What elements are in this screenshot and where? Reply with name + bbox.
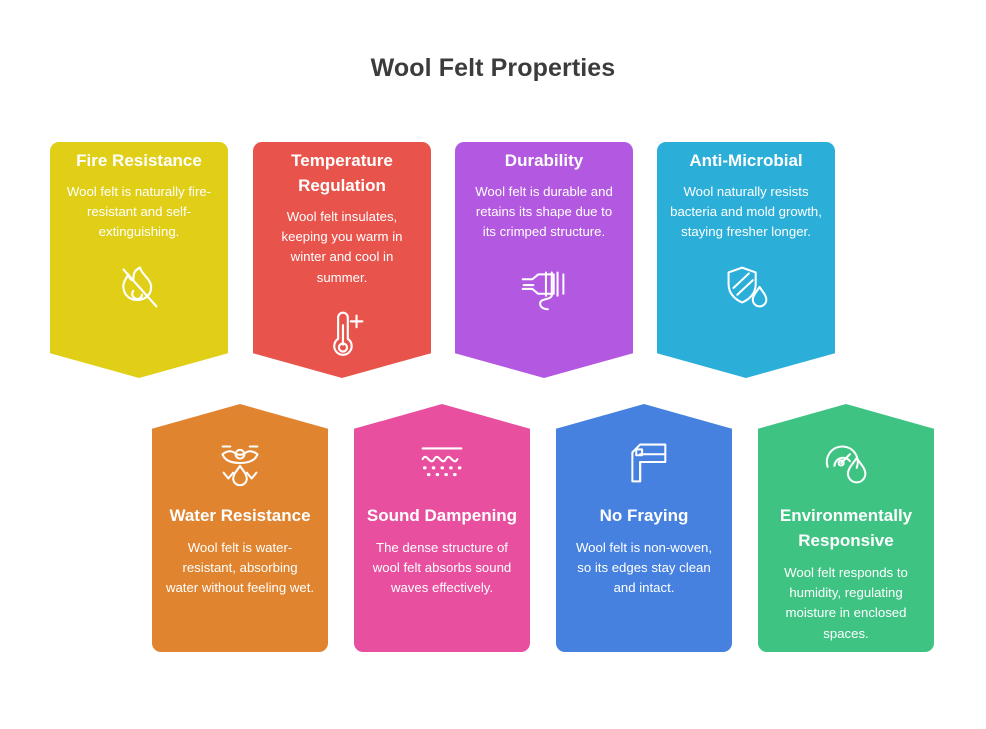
infographic-canvas: Wool Felt Properties Fire Resistance Woo… [0,0,986,729]
card-description: Wool felt is durable and retains its sha… [455,182,633,242]
card-anti-microbial[interactable]: Anti-Microbial Wool naturally resists ba… [657,142,835,378]
card-title: Fire Resistance [70,148,208,173]
card-sound-dampening[interactable]: Sound Dampening The dense structure of w… [354,404,530,652]
page-title: Wool Felt Properties [0,54,986,83]
water-repel-droplet-icon [209,431,271,493]
card-description: Wool felt is water-resistant, absorbing … [152,538,328,598]
humidity-gauge-droplet-icon [815,431,877,493]
card-title: Durability [499,148,589,173]
card-title: Sound Dampening [361,503,523,528]
shield-droplet-icon [715,256,777,318]
card-environmentally-responsive[interactable]: Environmentally Responsive Wool felt res… [758,404,934,652]
card-durability[interactable]: Durability Wool felt is durable and reta… [455,142,633,378]
card-description: The dense structure of wool felt absorbs… [354,538,530,598]
card-description: Wool felt is naturally fire-resistant an… [50,182,228,242]
card-title: Anti-Microbial [683,148,808,173]
card-temperature-regulation[interactable]: Temperature Regulation Wool felt insulat… [253,142,431,378]
thermometer-plus-icon [311,302,373,364]
card-description: Wool naturally resists bacteria and mold… [657,182,835,242]
card-title: Temperature Regulation [253,148,431,198]
sound-wave-icon [411,431,473,493]
card-fire-resistance[interactable]: Fire Resistance Wool felt is naturally f… [50,142,228,378]
card-title: No Fraying [594,503,695,528]
fabric-corner-icon [613,431,675,493]
flame-slash-icon [108,256,170,318]
card-no-fraying[interactable]: No Fraying Wool felt is non-woven, so it… [556,404,732,652]
card-description: Wool felt responds to humidity, regulati… [758,563,934,643]
card-title: Environmentally Responsive [758,503,934,553]
card-description: Wool felt insulates, keeping you warm in… [253,207,431,287]
card-water-resistance[interactable]: Water Resistance Wool felt is water-resi… [152,404,328,652]
card-title: Water Resistance [163,503,316,528]
crimped-fiber-icon [513,256,575,318]
card-description: Wool felt is non-woven, so its edges sta… [556,538,732,598]
